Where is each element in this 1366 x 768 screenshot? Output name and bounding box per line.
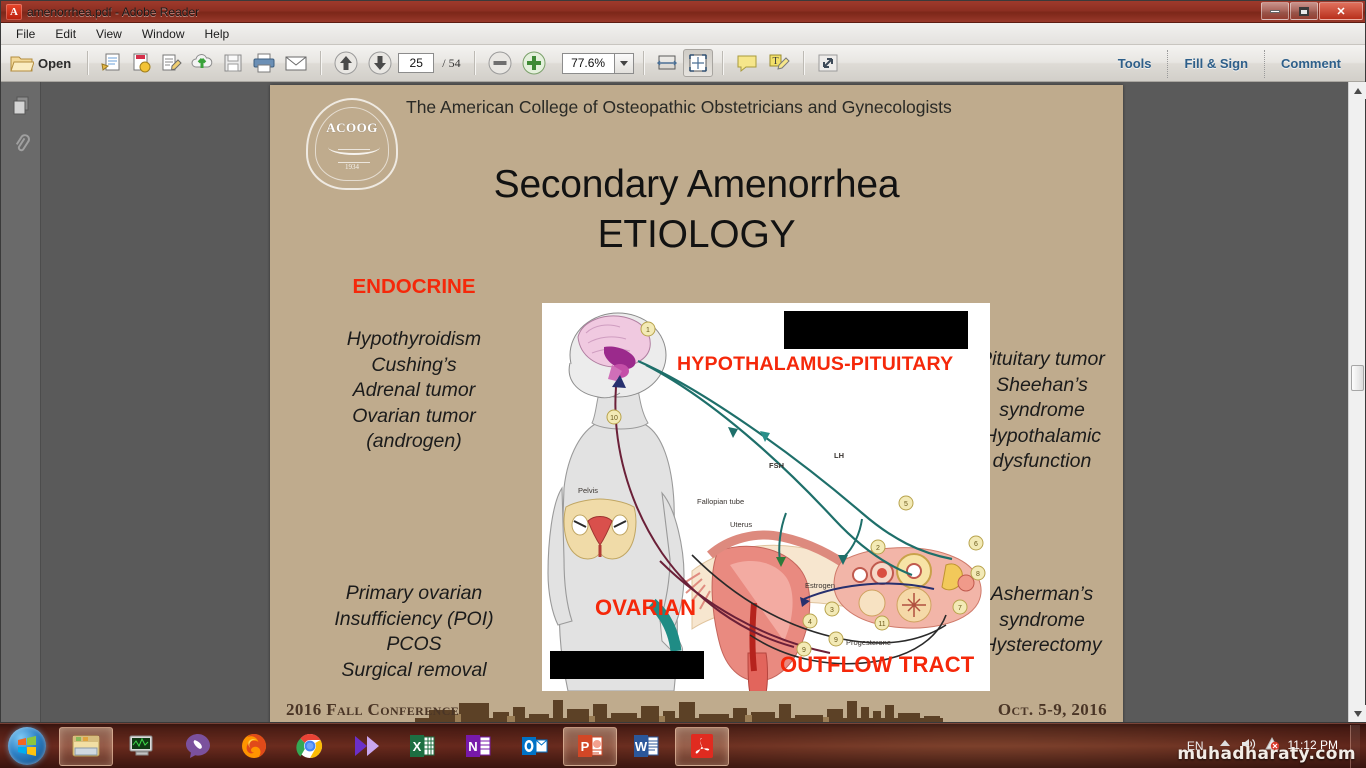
chevron-down-icon [1354, 711, 1362, 717]
close-button[interactable]: ✕ [1319, 2, 1363, 20]
zoom-in-icon [521, 50, 547, 76]
list-item: (androgen) [294, 429, 534, 455]
svg-text:10: 10 [610, 415, 618, 422]
open-folder-icon [10, 52, 34, 74]
adobe-reader-icon [688, 732, 716, 760]
svg-text:6: 6 [974, 541, 978, 548]
svg-text:X: X [413, 739, 422, 754]
next-page-icon [367, 50, 393, 76]
taskbar-viber[interactable] [171, 727, 225, 766]
page-title-line2: ETIOLOGY [270, 210, 1123, 260]
create-pdf-button[interactable] [97, 49, 125, 77]
onenote-icon: N [464, 733, 492, 759]
svg-text:1: 1 [646, 327, 650, 334]
window-titlebar: amenorrhea.pdf - Adobe Reader ✕ [1, 1, 1365, 23]
taskbar-powerpoint[interactable]: P [563, 727, 617, 766]
taskbar-excel[interactable]: X [395, 727, 449, 766]
fit-page-icon [687, 52, 709, 74]
page-title: Secondary Amenorrhea ETIOLOGY [270, 160, 1123, 260]
navigation-rail [1, 82, 41, 722]
email-icon [284, 52, 308, 74]
previous-page-button[interactable] [330, 49, 362, 77]
slide-footer: 2016 Fall Conference Oct. 5-9, 2016 [270, 691, 1123, 722]
page-title-line1: Secondary Amenorrhea [494, 163, 900, 206]
toolbar-separator [474, 51, 475, 75]
edit-pdf-icon [160, 52, 182, 74]
menu-window[interactable]: Window [133, 25, 194, 43]
word-icon: W [632, 733, 660, 759]
pdf-file-icon [6, 4, 22, 20]
endocrine-heading: ENDOCRINE [304, 275, 524, 299]
footer-date-label: Oct. 5-9, 2016 [998, 700, 1107, 720]
site-watermark: muhadharaty.com [1177, 744, 1356, 764]
fit-width-button[interactable] [653, 49, 681, 77]
zoom-out-button[interactable] [484, 49, 516, 77]
fit-width-icon [656, 52, 678, 74]
svg-text:4: 4 [808, 619, 812, 626]
redaction-box-top [784, 311, 968, 349]
start-button[interactable] [1, 725, 53, 768]
toolbar-separator [320, 51, 321, 75]
restore-button[interactable] [1290, 2, 1318, 20]
list-item: Cushing’s [294, 353, 534, 379]
anatomy-label-estrogen: Estrogen [805, 581, 835, 590]
list-item: Hypothyroidism [294, 327, 534, 353]
anatomy-label-lh: LH [834, 451, 844, 460]
export-pdf-button[interactable] [127, 49, 155, 77]
attachments-icon [9, 131, 33, 155]
ovarian-causes-list: Primary ovarian Insufficiency (POI) PCOS… [288, 581, 540, 683]
main-toolbar: Open [1, 45, 1365, 82]
screen: amenorrhea.pdf - Adobe Reader ✕ File Edi… [0, 0, 1366, 768]
menu-help[interactable]: Help [196, 25, 239, 43]
send-to-cloud-button[interactable] [187, 49, 217, 77]
fit-page-button[interactable] [683, 49, 713, 77]
chevron-up-icon [1354, 88, 1362, 94]
svg-text:N: N [468, 739, 477, 754]
toolbar-separator [87, 51, 88, 75]
save-button[interactable] [219, 49, 247, 77]
menu-file[interactable]: File [7, 25, 44, 43]
taskbar-onenote[interactable]: N [451, 727, 505, 766]
windows-orb-icon [8, 727, 46, 765]
outlook-icon [520, 733, 548, 759]
zoom-dropdown-button[interactable] [614, 53, 634, 74]
viber-icon [184, 732, 212, 760]
svg-text:T: T [772, 56, 778, 67]
svg-text:5: 5 [904, 501, 908, 508]
read-mode-icon [816, 52, 840, 74]
taskbar-chrome[interactable] [283, 727, 337, 766]
sticky-note-icon [735, 52, 759, 74]
excel-icon: X [408, 733, 436, 759]
export-pdf-icon [130, 52, 152, 74]
menu-edit[interactable]: Edit [46, 25, 85, 43]
pdf-page: ACOOG 1934 The American College of Osteo… [270, 85, 1123, 722]
taskbar-media-player[interactable] [339, 727, 393, 766]
diagram-label-hypothalamus-pituitary: HYPOTHALAMUS-PITUITARY [677, 353, 953, 376]
email-button[interactable] [281, 49, 311, 77]
page-number-input[interactable]: 25 [398, 53, 434, 73]
chevron-down-icon [620, 61, 628, 66]
endocrine-causes-list: Hypothyroidism Cushing’s Adrenal tumor O… [294, 327, 534, 455]
open-file-button[interactable]: Open [7, 49, 78, 77]
read-mode-button[interactable] [813, 49, 843, 77]
taskbar-outlook[interactable] [507, 727, 561, 766]
system-monitor-icon [127, 733, 157, 759]
window-title: amenorrhea.pdf - Adobe Reader [27, 5, 199, 19]
hpo-axis-diagram: 110 23 49 911 56 78 Pelvis Fallopian tub… [542, 303, 990, 693]
toolbar-separator [803, 51, 804, 75]
fill-and-sign-panel-button[interactable]: Fill & Sign [1168, 56, 1264, 71]
svg-text:3: 3 [830, 607, 834, 614]
send-to-cloud-icon [190, 52, 214, 74]
page-thumbnails-icon [9, 93, 33, 117]
svg-text:P: P [581, 739, 590, 754]
vertical-scrollbar[interactable] [1348, 82, 1365, 722]
list-item: Primary ovarian [288, 581, 540, 607]
svg-text:2: 2 [876, 545, 880, 552]
adobe-reader-window: amenorrhea.pdf - Adobe Reader ✕ File Edi… [0, 0, 1366, 723]
anatomy-label-fallopian-tube: Fallopian tube [697, 497, 744, 506]
zoom-out-icon [487, 50, 513, 76]
redaction-box-bottom [550, 651, 704, 679]
edit-pdf-button[interactable] [157, 49, 185, 77]
list-item: PCOS [288, 632, 540, 658]
footer-conference-label: 2016 Fall Conference [286, 700, 459, 720]
taskbar-firefox[interactable] [227, 727, 281, 766]
window-controls: ✕ [1261, 2, 1363, 20]
next-page-button[interactable] [364, 49, 396, 77]
svg-text:11: 11 [878, 621, 885, 628]
page-total-label: / 54 [442, 56, 460, 71]
media-player-icon [351, 734, 381, 758]
taskbar-system-monitor[interactable] [115, 727, 169, 766]
anatomy-label-uterus: Uterus [730, 520, 752, 529]
scrollbar-thumb[interactable] [1351, 365, 1364, 391]
taskbar-buttons: X N [59, 727, 729, 766]
city-skyline-graphic [415, 698, 943, 722]
list-item: Ovarian tumor [294, 404, 534, 430]
toolbar-separator [722, 51, 723, 75]
save-icon [222, 52, 244, 74]
open-label: Open [38, 56, 75, 71]
firefox-icon [240, 732, 268, 760]
list-item: Adrenal tumor [294, 378, 534, 404]
taskbar-word[interactable]: W [619, 727, 673, 766]
svg-text:W: W [635, 739, 648, 754]
logo-text: ACOOG [308, 120, 396, 136]
tools-panel-button[interactable]: Tools [1102, 56, 1168, 71]
anatomy-label-fsh: FSH [769, 461, 784, 470]
taskbar: X N [0, 723, 1366, 768]
toolbar-right-panels: Tools Fill & Sign Comment [1102, 45, 1357, 82]
highlight-text-icon: T [767, 52, 791, 74]
windows-explorer-icon [71, 733, 101, 759]
scroll-down-button[interactable] [1349, 705, 1366, 722]
svg-text:8: 8 [976, 571, 980, 578]
taskbar-adobe-reader[interactable] [675, 727, 729, 766]
zoom-in-button[interactable] [518, 49, 550, 77]
chrome-icon [296, 732, 324, 760]
highlight-text-button[interactable]: T [764, 49, 794, 77]
print-button[interactable] [249, 49, 279, 77]
anatomy-label-progesterone: Progesterone [846, 638, 891, 647]
sticky-note-button[interactable] [732, 49, 762, 77]
print-icon [252, 52, 276, 74]
scroll-up-button[interactable] [1349, 82, 1366, 99]
comment-panel-button[interactable]: Comment [1265, 56, 1357, 71]
attachments-button[interactable] [6, 128, 36, 158]
diagram-label-outflow-tract: OUTFLOW TRACT [780, 652, 974, 678]
page-thumbnails-button[interactable] [6, 90, 36, 120]
list-item: Insufficiency (POI) [288, 607, 540, 633]
powerpoint-icon: P [576, 733, 604, 759]
document-viewport[interactable]: ACOOG 1934 The American College of Osteo… [41, 82, 1365, 722]
zoom-level-input[interactable]: 77.6% [562, 53, 614, 74]
svg-text:9: 9 [834, 637, 838, 644]
minimize-button[interactable] [1261, 2, 1289, 20]
create-pdf-icon [100, 52, 122, 74]
list-item: Surgical removal [288, 658, 540, 684]
menu-view[interactable]: View [87, 25, 131, 43]
diagram-label-ovarian: OVARIAN [595, 595, 696, 621]
organization-line: The American College of Osteopathic Obst… [406, 97, 1105, 118]
toolbar-separator [643, 51, 644, 75]
menu-bar: File Edit View Window Help [1, 23, 1365, 45]
anatomy-label-pelvis: Pelvis [578, 486, 598, 495]
svg-text:7: 7 [958, 605, 962, 612]
taskbar-windows-explorer[interactable] [59, 727, 113, 766]
previous-page-icon [333, 50, 359, 76]
